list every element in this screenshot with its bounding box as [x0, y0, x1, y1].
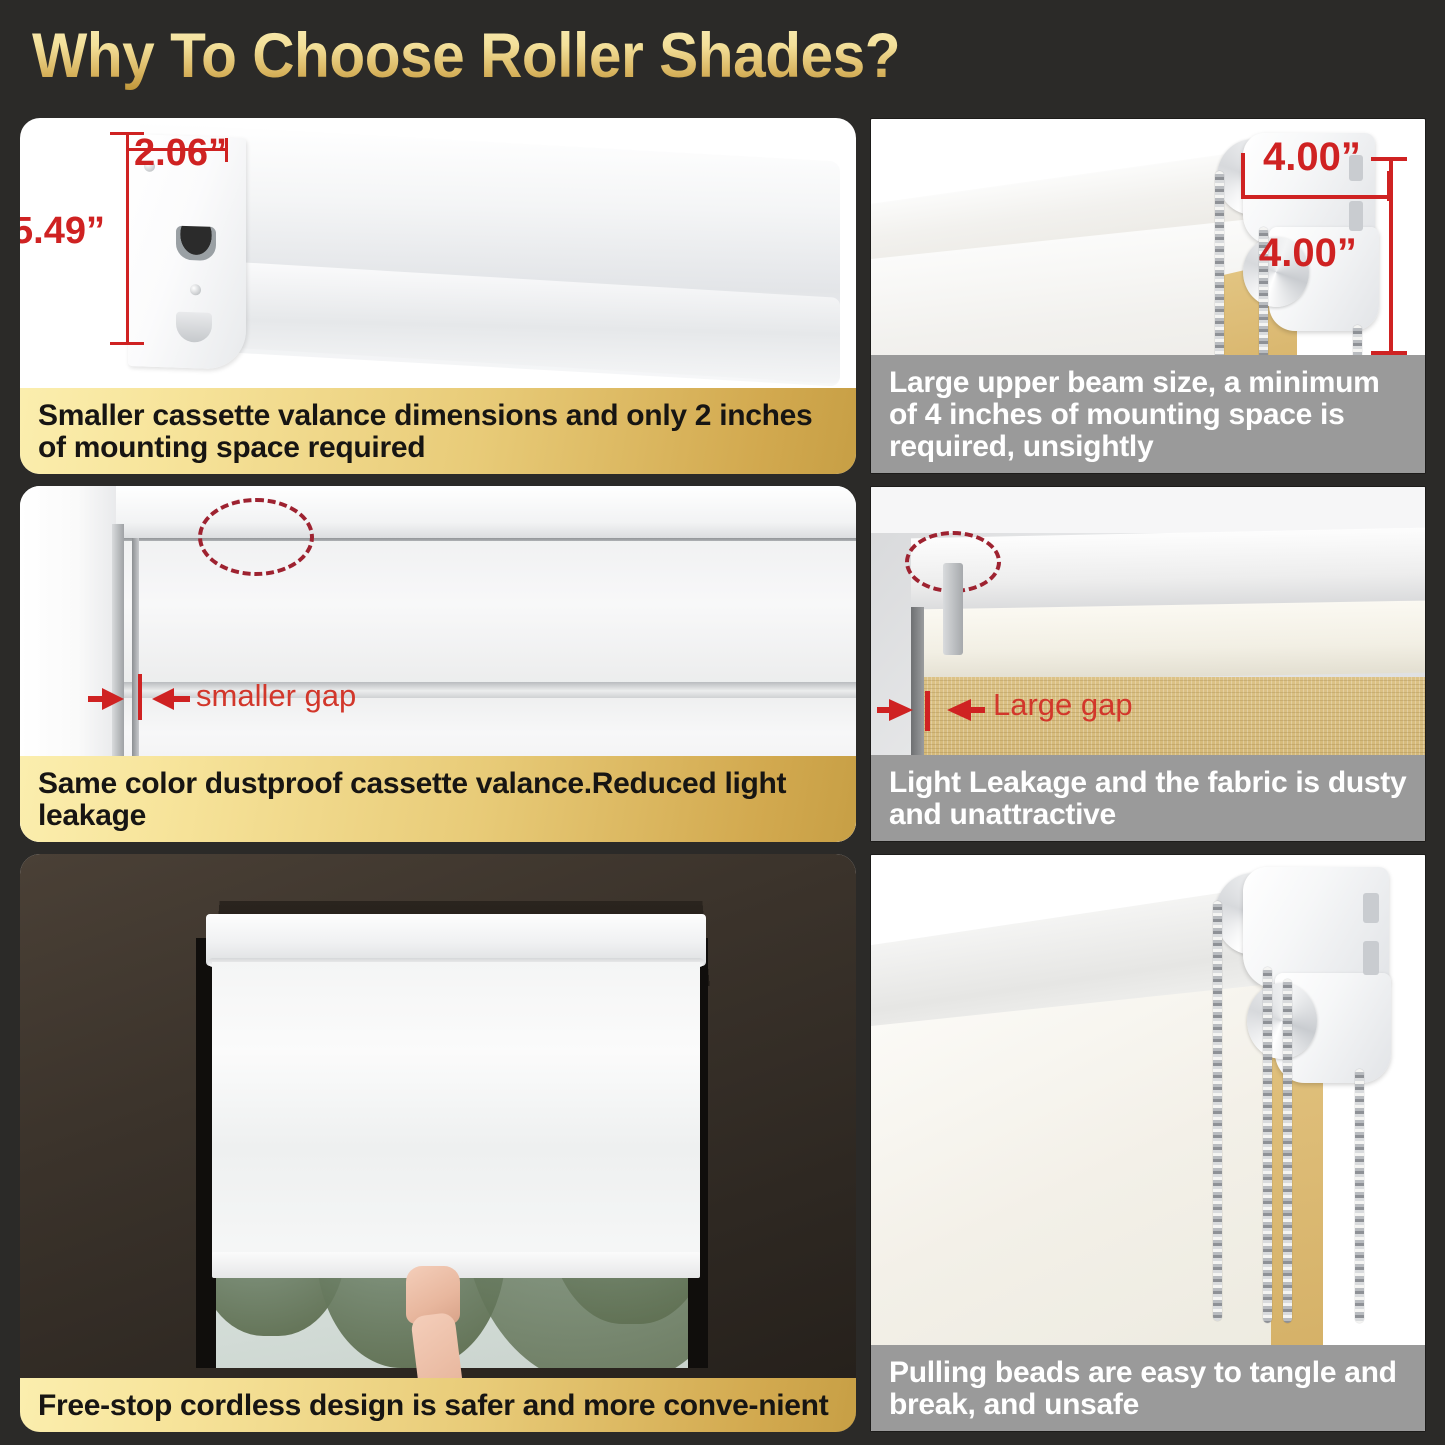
height-dim-line	[126, 132, 129, 345]
panel-4-caption-text: Light Leakage and the fabric is dusty an…	[889, 767, 1409, 831]
gap-arrow-left-stem	[877, 707, 893, 713]
bead-chain-middle-a	[1263, 967, 1272, 1323]
panel-large-upper-beam: 4.00” 4.00” Large upper beam size, a min…	[870, 118, 1426, 474]
width-dimension-label: 2.06”	[134, 132, 227, 175]
height-dim-tick-bottom	[110, 342, 144, 345]
panel-1-caption-text: Smaller cassette valance dimensions and …	[38, 400, 840, 464]
panel-pulling-beads: Pulling beads are easy to tangle and bre…	[870, 854, 1426, 1432]
endcap-upper-slot	[176, 226, 216, 261]
panel-3-caption-text: Same color dustproof cassette valance.Re…	[38, 768, 840, 832]
roller-end-cap-lower	[1247, 983, 1317, 1059]
white-shade-fabric	[212, 962, 700, 1262]
leak-highlight-circle	[198, 498, 314, 576]
panel-6-caption-bar: Pulling beads are easy to tangle and bre…	[871, 1345, 1425, 1431]
panel-5-photo	[20, 854, 856, 1432]
bracket-clip	[943, 563, 963, 655]
panel-4-caption-bar: Light Leakage and the fabric is dusty an…	[871, 755, 1425, 841]
bracket-slot-lower	[1363, 941, 1379, 975]
panel-dustproof-valance: smaller gap Same color dustproof cassett…	[20, 486, 856, 842]
bracket-slot-upper	[1363, 893, 1379, 923]
panel-1-caption-bar: Smaller cassette valance dimensions and …	[20, 388, 856, 474]
panel-light-leakage: Large gap Light Leakage and the fabric i…	[870, 486, 1426, 842]
bead-chain-left	[1213, 901, 1222, 1321]
panel-3-caption-bar: Same color dustproof cassette valance.Re…	[20, 756, 856, 842]
upper-beam-front	[917, 601, 1425, 682]
comparison-grid: 2.06” 5.49” Smaller cassette valance dim…	[0, 112, 1445, 1445]
beam-width-line	[1241, 195, 1391, 199]
beam-height-label: 4.00”	[1259, 231, 1357, 276]
endcap-lower-slot	[176, 312, 212, 343]
gap-arrow-right-stem	[969, 707, 985, 713]
gap-arrow-right-stem	[172, 696, 190, 702]
height-dimension-label: 5.49”	[20, 210, 105, 253]
large-gap-label: Large gap	[993, 687, 1133, 723]
gap-marker-line	[925, 691, 930, 731]
beam-height-tick-top	[1371, 157, 1407, 161]
bead-chain-right	[1355, 1069, 1364, 1323]
gap-arrow-left-stem	[88, 696, 106, 702]
beam-width-tick-left	[1241, 153, 1245, 199]
panel-cassette-dimensions: 2.06” 5.49” Smaller cassette valance dim…	[20, 118, 856, 474]
smaller-gap-label: smaller gap	[196, 678, 356, 714]
ceiling-strip	[871, 487, 1425, 533]
panel-6-caption-text: Pulling beads are easy to tangle and bre…	[889, 1357, 1409, 1421]
panel-cordless-design: Free-stop cordless design is safer and m…	[20, 854, 856, 1432]
beam-width-label: 4.00”	[1263, 135, 1361, 180]
gap-arrow-right	[152, 688, 174, 710]
gap-marker-line	[138, 674, 142, 720]
height-dim-tick-top	[110, 132, 144, 135]
endcap-screw-lower	[190, 284, 201, 295]
page-title: Why To Choose Roller Shades?	[32, 20, 900, 92]
panel-2-caption-text: Large upper beam size, a minimum of 4 in…	[889, 367, 1409, 463]
title-bar: Why To Choose Roller Shades?	[0, 0, 1445, 112]
panel-5-caption-text: Free-stop cordless design is safer and m…	[38, 1390, 828, 1422]
gap-arrow-right	[947, 699, 971, 721]
panel-2-caption-bar: Large upper beam size, a minimum of 4 in…	[871, 355, 1425, 473]
bracket-slot-lower	[1349, 201, 1363, 231]
bead-chain-middle-b	[1283, 979, 1292, 1323]
panel-5-caption-bar: Free-stop cordless design is safer and m…	[20, 1378, 856, 1432]
beam-height-line	[1389, 157, 1393, 355]
